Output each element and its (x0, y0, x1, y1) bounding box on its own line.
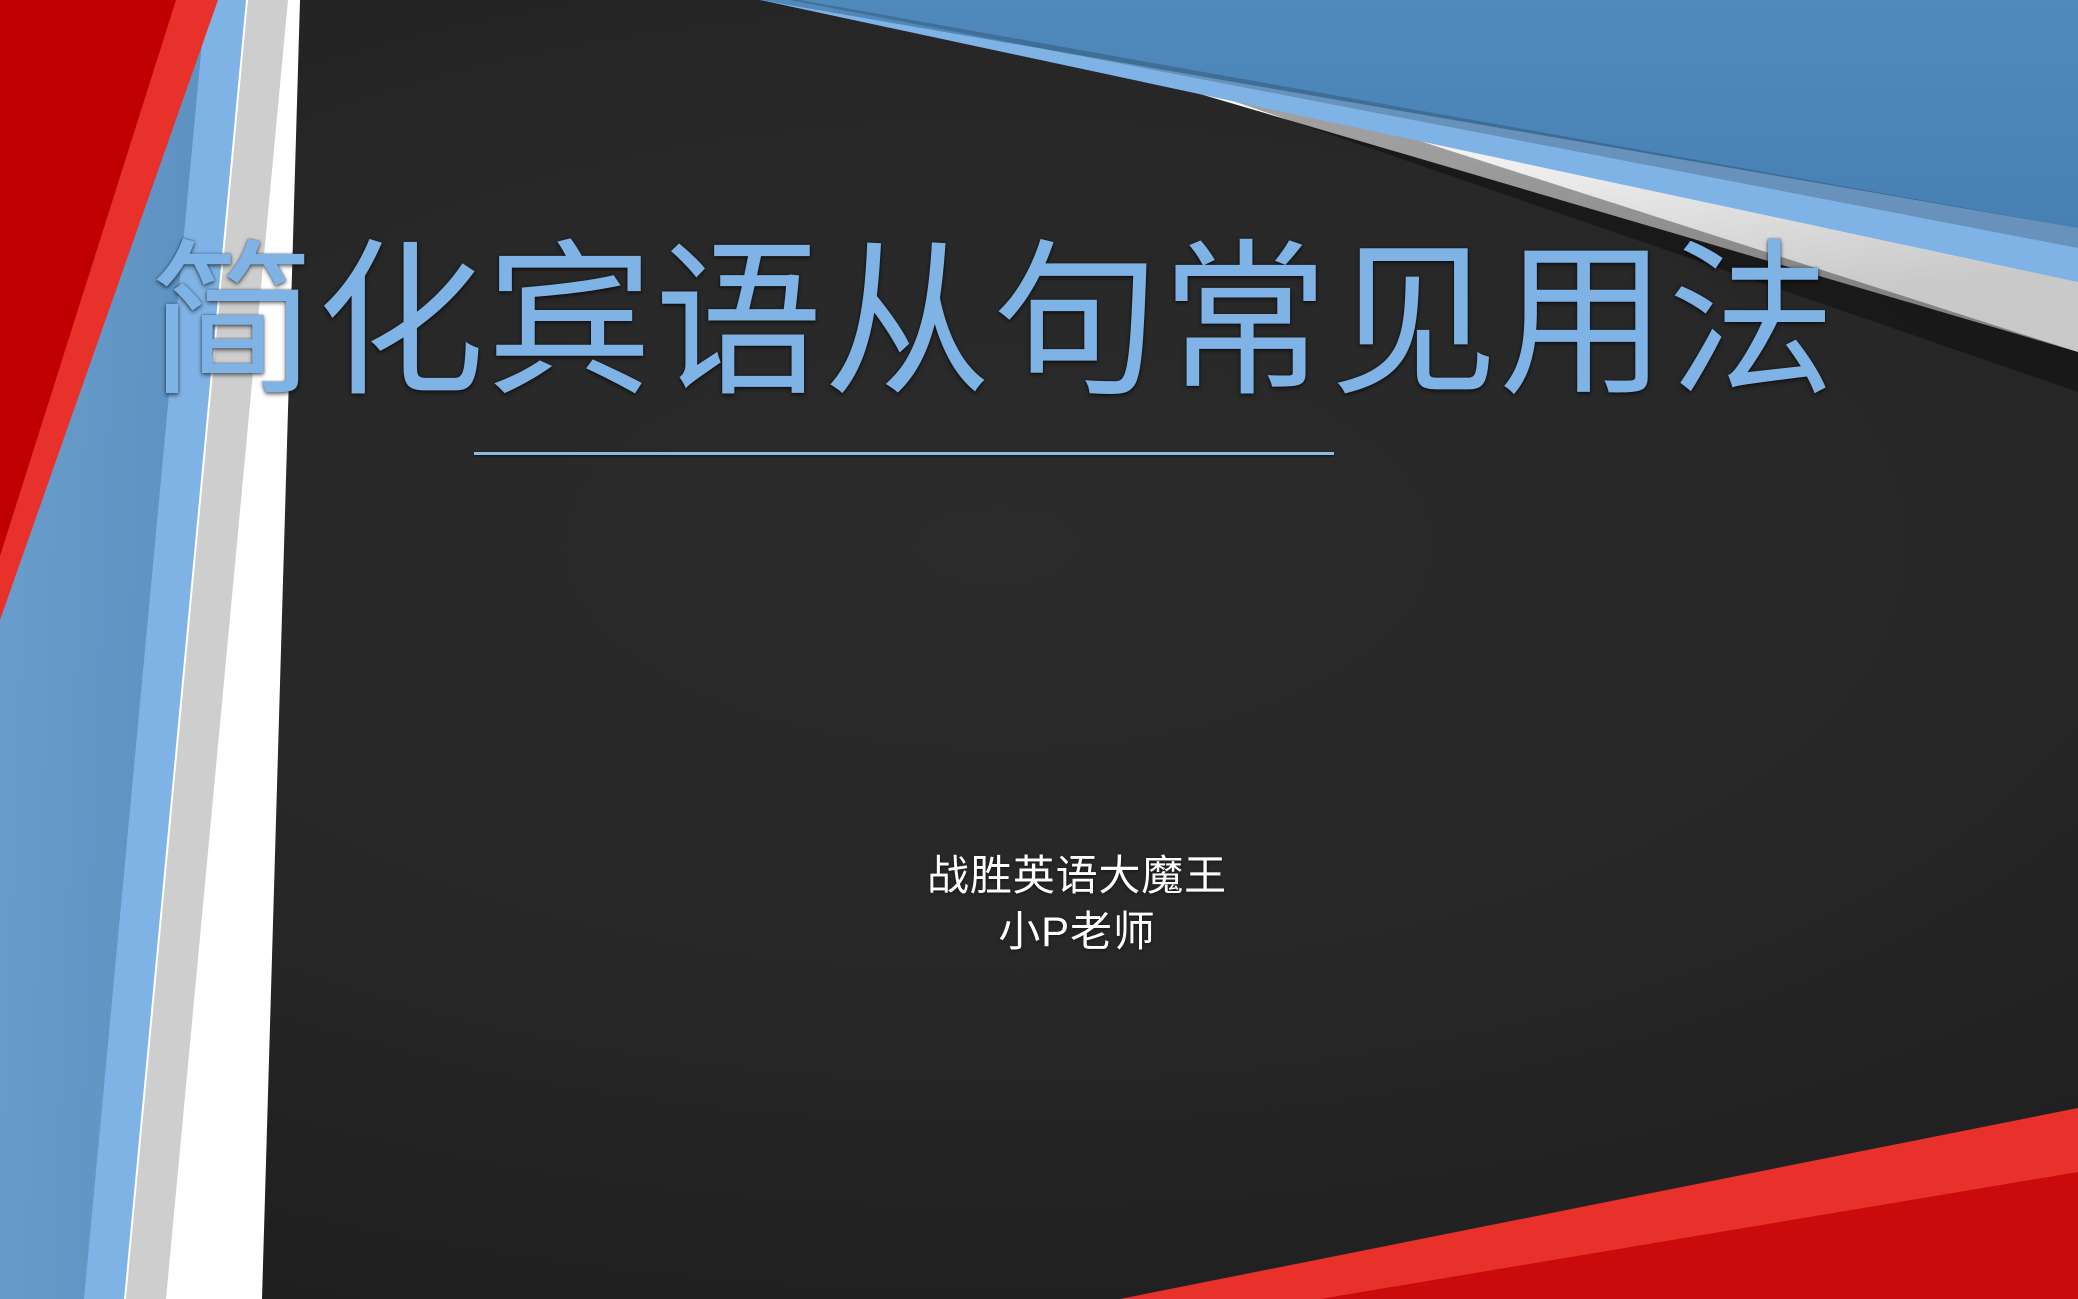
subtitle-line-2: 小P老师 (76, 904, 2078, 960)
page-title: 简化宾语从句常见用法 (148, 238, 1488, 406)
subtitle-line-1: 战胜英语大魔王 (76, 848, 2078, 904)
bottom-left-white-tip (262, 1240, 300, 1299)
title-divider-line (474, 452, 1334, 455)
title-block: 简化宾语从句常见用法 (148, 238, 1488, 455)
subtitle-block: 战胜英语大魔王 小P老师 (0, 848, 2078, 961)
decoration-layer (0, 0, 2078, 1299)
presentation-slide: 简化宾语从句常见用法 战胜英语大魔王 小P老师 (0, 0, 2078, 1299)
